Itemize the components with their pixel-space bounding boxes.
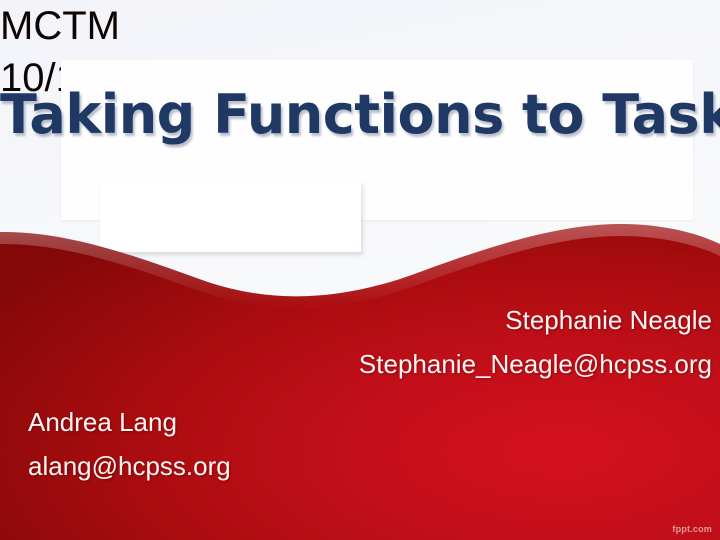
presentation-slide: Taking Functions to Task Stephanie Neagl… bbox=[0, 0, 720, 540]
primary-presenter-email: Stephanie_Neagle@hcpss.org bbox=[359, 342, 712, 386]
primary-presenter-name: Stephanie Neagle bbox=[359, 298, 712, 342]
secondary-presenter-block: Andrea Lang alang@hcpss.org bbox=[28, 400, 231, 488]
secondary-presenter-name: Andrea Lang bbox=[28, 400, 231, 444]
primary-presenter-block: Stephanie Neagle Stephanie_Neagle@hcpss.… bbox=[359, 298, 712, 386]
secondary-presenter-email: alang@hcpss.org bbox=[28, 444, 231, 488]
page-title: Taking Functions to Task bbox=[0, 84, 720, 146]
fppt-watermark: fppt.com bbox=[672, 524, 712, 534]
